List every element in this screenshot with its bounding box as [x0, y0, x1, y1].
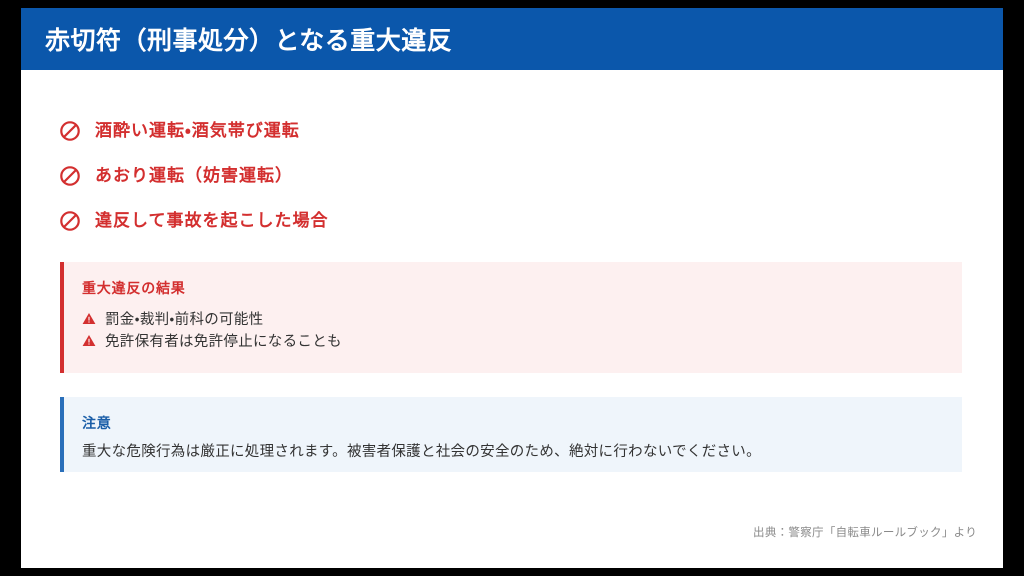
source-credit: 出典：警察庁「自転車ルールブック」より: [753, 524, 977, 540]
prohibition-icon: [59, 120, 81, 142]
list-item: 罰金・裁判・前科の可能性: [82, 307, 962, 329]
violation-label: 違反して事故を起こした場合: [95, 212, 329, 229]
warning-triangle-icon: [82, 334, 96, 347]
prohibition-icon: [59, 210, 81, 232]
slide-title-band: 赤切符（刑事処分）となる重大違反: [21, 8, 1003, 70]
result-accent-bar: [60, 262, 64, 373]
note-accent-bar: [60, 397, 64, 472]
warning-triangle-icon: [82, 312, 96, 325]
list-item: 違反して事故を起こした場合: [59, 198, 959, 243]
note-callout-box: 注意 重大な危険行為は厳正に処理されます。被害者保護と社会の安全のため、絶対に行…: [60, 397, 962, 472]
slide-canvas: 赤切符（刑事処分）となる重大違反 酒酔い運転・酒気帯び運転 あおり運転（妨害運転…: [21, 8, 1003, 568]
slide-root: 赤切符（刑事処分）となる重大違反 酒酔い運転・酒気帯び運転 あおり運転（妨害運転…: [0, 0, 1024, 576]
page-title: 赤切符（刑事処分）となる重大違反: [45, 21, 452, 57]
result-item-text: 免許保有者は免許停止になることも: [105, 330, 342, 351]
note-callout-body: 重大な危険行為は厳正に処理されます。被害者保護と社会の安全のため、絶対に行わない…: [82, 442, 962, 462]
violation-list: 酒酔い運転・酒気帯び運転 あおり運転（妨害運転） 違反して事故を起こした場合: [59, 108, 959, 243]
result-callout-title: 重大違反の結果: [82, 278, 962, 298]
violation-label: 酒酔い運転・酒気帯び運転: [95, 122, 300, 139]
note-callout-title: 注意: [82, 413, 962, 433]
list-item: 酒酔い運転・酒気帯び運転: [59, 108, 959, 153]
list-item: 免許保有者は免許停止になることも: [82, 329, 962, 351]
list-item: あおり運転（妨害運転）: [59, 153, 959, 198]
result-callout-box: 重大違反の結果 罰金・裁判・前科の可能性 免許保有者は免許停止になることも: [60, 262, 962, 373]
violation-label: あおり運転（妨害運転）: [95, 167, 293, 184]
result-item-text: 罰金・裁判・前科の可能性: [105, 308, 263, 329]
prohibition-icon: [59, 165, 81, 187]
